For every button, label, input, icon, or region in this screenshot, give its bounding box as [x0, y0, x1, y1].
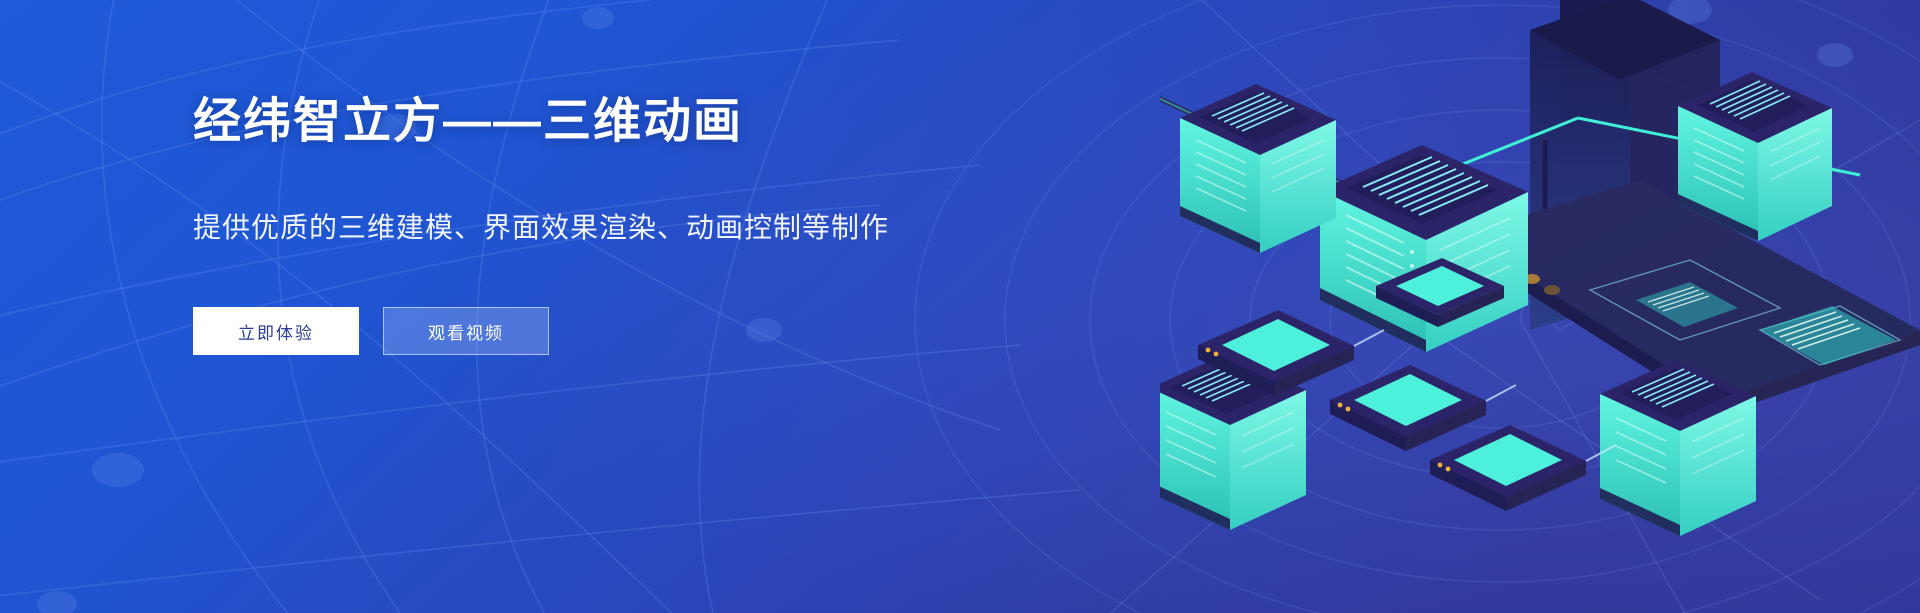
- server-rack-bottom-right: [1600, 360, 1756, 536]
- isometric-server-illustration: [1160, 0, 1920, 613]
- server-rack-center: [1320, 145, 1528, 352]
- server-rack-top-left: [1180, 84, 1336, 253]
- chip-pad-3: [1430, 425, 1586, 511]
- watch-video-button[interactable]: 观看视频: [383, 307, 549, 355]
- hero-copy: 经纬智立方——三维动画 提供优质的三维建模、界面效果渲染、动画控制等制作: [193, 96, 1013, 244]
- page-title: 经纬智立方——三维动画: [193, 96, 1013, 149]
- hero-banner: 经纬智立方——三维动画 提供优质的三维建模、界面效果渲染、动画控制等制作 立即体…: [0, 0, 1920, 613]
- page-subtitle: 提供优质的三维建模、界面效果渲染、动画控制等制作: [193, 211, 1013, 245]
- try-now-button[interactable]: 立即体验: [193, 307, 359, 355]
- cta-button-row: 立即体验 观看视频: [193, 307, 549, 355]
- chip-pad-2: [1330, 365, 1486, 451]
